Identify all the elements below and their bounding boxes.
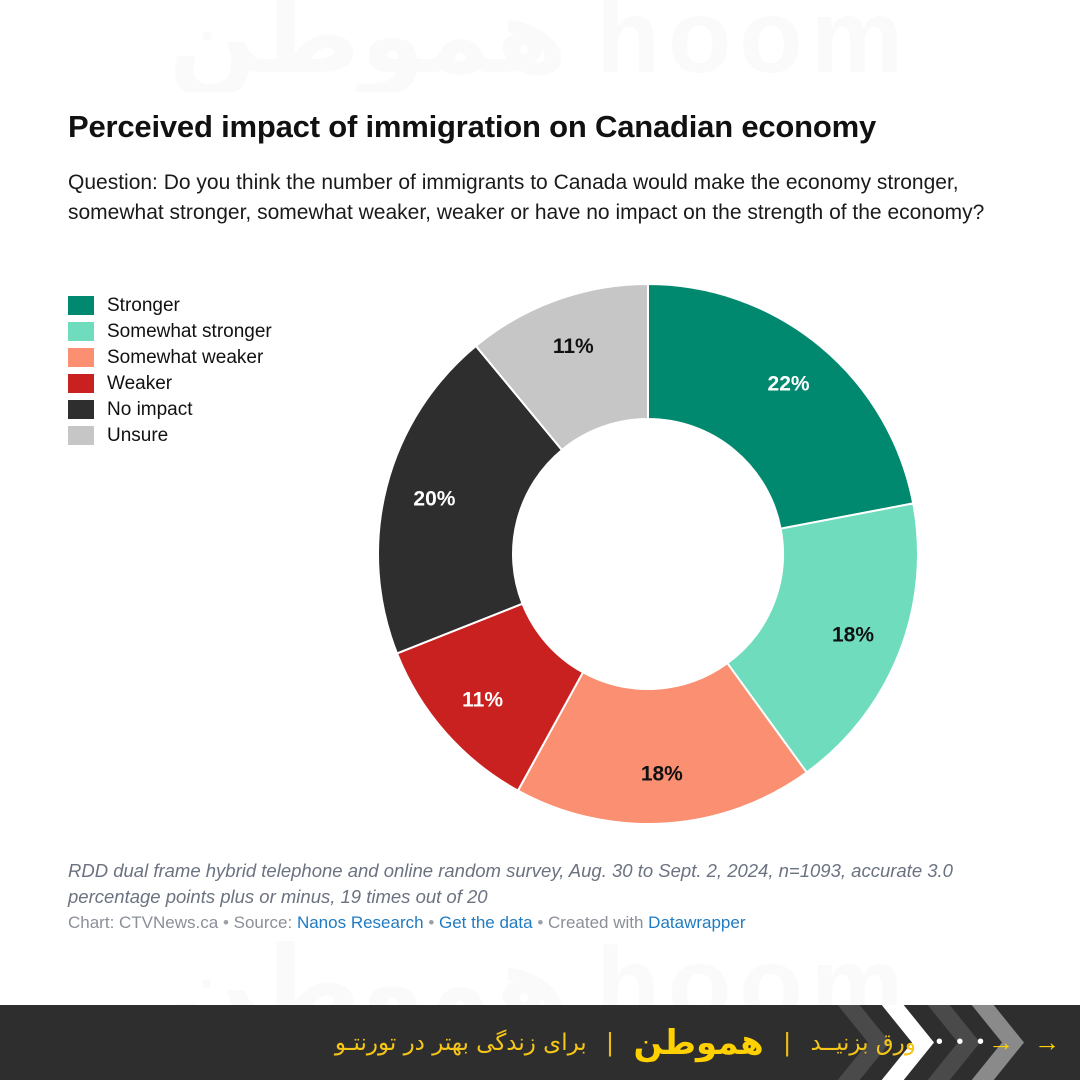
banner-tagline: برای زندگی بهتر در تورنتـو: [335, 1030, 587, 1056]
page-title: Perceived impact of immigration on Canad…: [68, 108, 1018, 145]
legend-swatch-icon: [68, 296, 94, 315]
chart-subtitle: Question: Do you think the number of imm…: [68, 168, 1013, 229]
credits-line: Chart: CTVNews.ca • Source: Nanos Resear…: [68, 911, 1018, 935]
legend-item-label: Weaker: [107, 374, 172, 393]
legend-item-label: Somewhat stronger: [107, 322, 272, 341]
legend-item-somewhat-stronger[interactable]: Somewhat stronger: [68, 318, 272, 344]
banner-divider-1: |: [607, 1027, 614, 1058]
credit-sep-3: •: [537, 913, 543, 932]
donut-slice-label: 18%: [832, 624, 874, 647]
chart-page: هموطن hoom هموطن hoom Perceived impact o…: [0, 0, 1080, 1080]
methodology-note: RDD dual frame hybrid telephone and onli…: [68, 858, 1018, 911]
banner-dots: • • •: [936, 1031, 988, 1054]
donut-chart: 22%18%18%11%20%11%: [378, 284, 918, 824]
datawrapper-link[interactable]: Datawrapper: [648, 913, 745, 932]
legend-item-somewhat-weaker[interactable]: Somewhat weaker: [68, 344, 272, 370]
chart-legend: StrongerSomewhat strongerSomewhat weaker…: [68, 292, 272, 448]
donut-slice-label: 22%: [768, 373, 810, 396]
banner-cta: ورق بزنیــد: [811, 1030, 916, 1056]
donut-slice-stronger[interactable]: [648, 284, 913, 529]
credit-created-with: Created with: [548, 913, 643, 932]
source-link[interactable]: Nanos Research: [297, 913, 424, 932]
chart-card: Perceived impact of immigration on Canad…: [0, 0, 1080, 1005]
arrow-right-icon-1: →: [988, 1027, 1014, 1058]
legend-item-label: Stronger: [107, 296, 180, 315]
get-the-data-link[interactable]: Get the data: [439, 913, 533, 932]
donut-slice-label: 18%: [641, 763, 683, 786]
legend-item-weaker[interactable]: Weaker: [68, 370, 272, 396]
legend-swatch-icon: [68, 400, 94, 419]
legend-item-no-impact[interactable]: No impact: [68, 396, 272, 422]
legend-item-label: No impact: [107, 400, 193, 419]
donut-svg: 22%18%18%11%20%11%: [378, 284, 918, 824]
legend-swatch-icon: [68, 322, 94, 341]
arrow-right-icon-2: →: [1034, 1027, 1060, 1058]
legend-item-stronger[interactable]: Stronger: [68, 292, 272, 318]
legend-swatch-icon: [68, 374, 94, 393]
credit-sep-2: •: [428, 913, 434, 932]
credit-source-label: Source:: [234, 913, 293, 932]
banner-content: → → • • • ورق بزنیــد | هموطن | برای زند…: [0, 1005, 1080, 1080]
promo-banner: → → • • • ورق بزنیــد | هموطن | برای زند…: [0, 1005, 1080, 1080]
legend-item-label: Unsure: [107, 426, 168, 445]
credit-chart-by: Chart: CTVNews.ca: [68, 913, 218, 932]
donut-slice-label: 11%: [553, 335, 594, 358]
donut-slice-label: 20%: [413, 488, 455, 511]
brand-logo: هموطن: [633, 1023, 763, 1063]
legend-swatch-icon: [68, 426, 94, 445]
legend-item-label: Somewhat weaker: [107, 348, 263, 367]
credit-sep-1: •: [223, 913, 229, 932]
legend-item-unsure[interactable]: Unsure: [68, 422, 272, 448]
banner-divider-2: |: [784, 1027, 791, 1058]
legend-swatch-icon: [68, 348, 94, 367]
donut-slice-label: 11%: [462, 688, 503, 711]
